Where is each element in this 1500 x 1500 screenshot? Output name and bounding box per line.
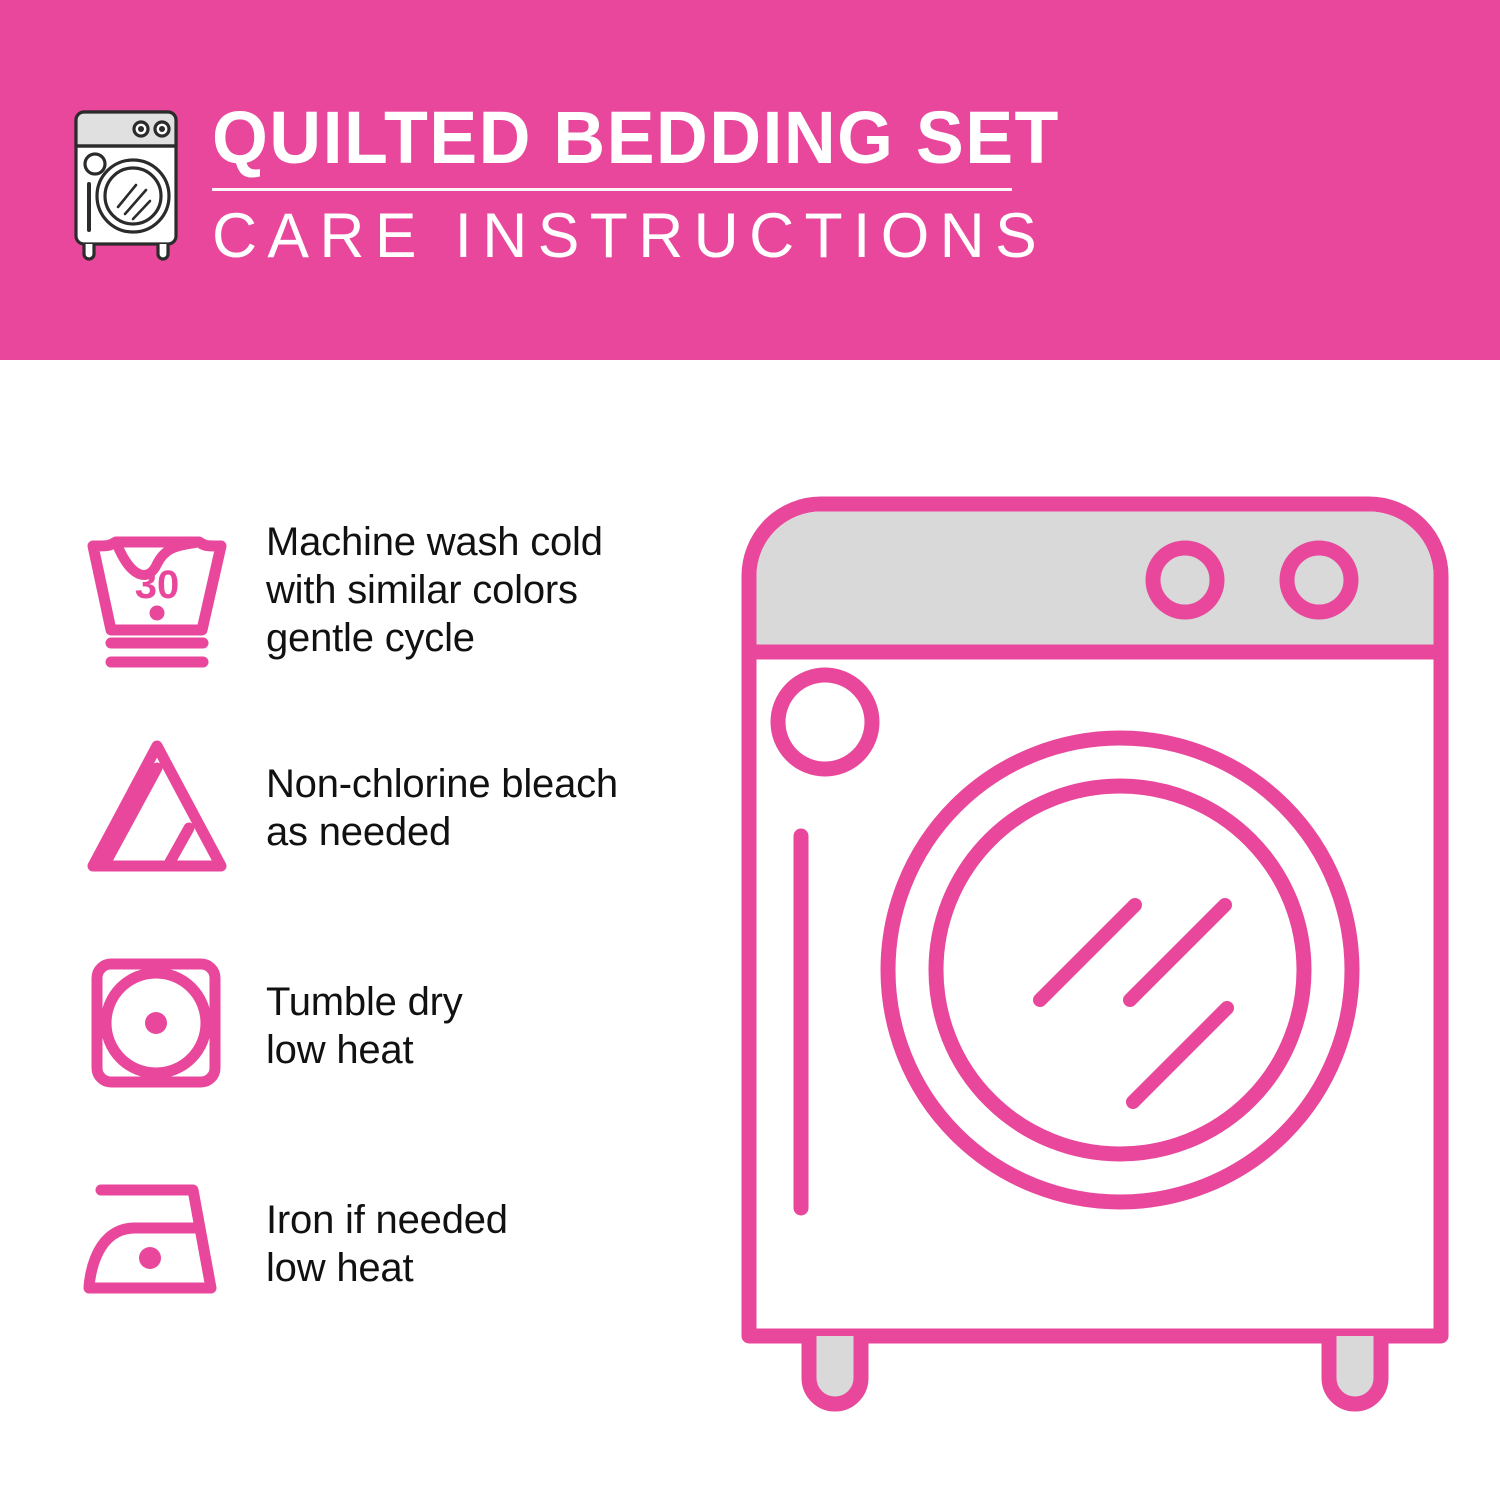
wash-tub-30-gentle-icon: 30 bbox=[70, 510, 242, 670]
list-item: 30 Machine wash cold with similar colors… bbox=[70, 500, 710, 680]
page-header: QUILTED BEDDING SET CARE INSTRUCTIONS bbox=[0, 0, 1500, 360]
page-title: QUILTED BEDDING SET bbox=[212, 96, 1060, 180]
list-item: Tumble dry low heat bbox=[70, 936, 710, 1116]
instruction-text: Iron if needed low heat bbox=[266, 1196, 508, 1292]
leg-right bbox=[1329, 1336, 1381, 1404]
instruction-text: Machine wash cold with similar colors ge… bbox=[266, 518, 603, 662]
knob-right-icon[interactable] bbox=[1287, 548, 1351, 612]
instruction-text: Tumble dry low heat bbox=[266, 978, 463, 1074]
bleach-triangle-striped-icon bbox=[70, 728, 242, 888]
list-item: Iron if needed low heat bbox=[70, 1154, 710, 1334]
instruction-text: Non-chlorine bleach as needed bbox=[266, 760, 618, 856]
wash-temperature-label: 30 bbox=[135, 563, 180, 607]
page-subtitle: CARE INSTRUCTIONS bbox=[212, 201, 1077, 271]
care-instructions-list: 30 Machine wash cold with similar colors… bbox=[70, 500, 710, 1334]
title-divider bbox=[212, 188, 1012, 191]
page-content: 30 Machine wash cold with similar colors… bbox=[0, 360, 1500, 1500]
knob-left-icon[interactable] bbox=[1153, 548, 1217, 612]
iron-one-dot-icon bbox=[70, 1164, 242, 1324]
header-title-block: QUILTED BEDDING SET CARE INSTRUCTIONS bbox=[212, 96, 1086, 271]
leg-left bbox=[809, 1336, 861, 1404]
washing-machine-illustration bbox=[735, 490, 1455, 1430]
washing-machine-icon bbox=[62, 106, 190, 274]
tumble-dry-square-one-dot-icon bbox=[70, 946, 242, 1106]
list-item: Non-chlorine bleach as needed bbox=[70, 718, 710, 898]
header-content: QUILTED BEDDING SET CARE INSTRUCTIONS bbox=[62, 96, 1086, 274]
